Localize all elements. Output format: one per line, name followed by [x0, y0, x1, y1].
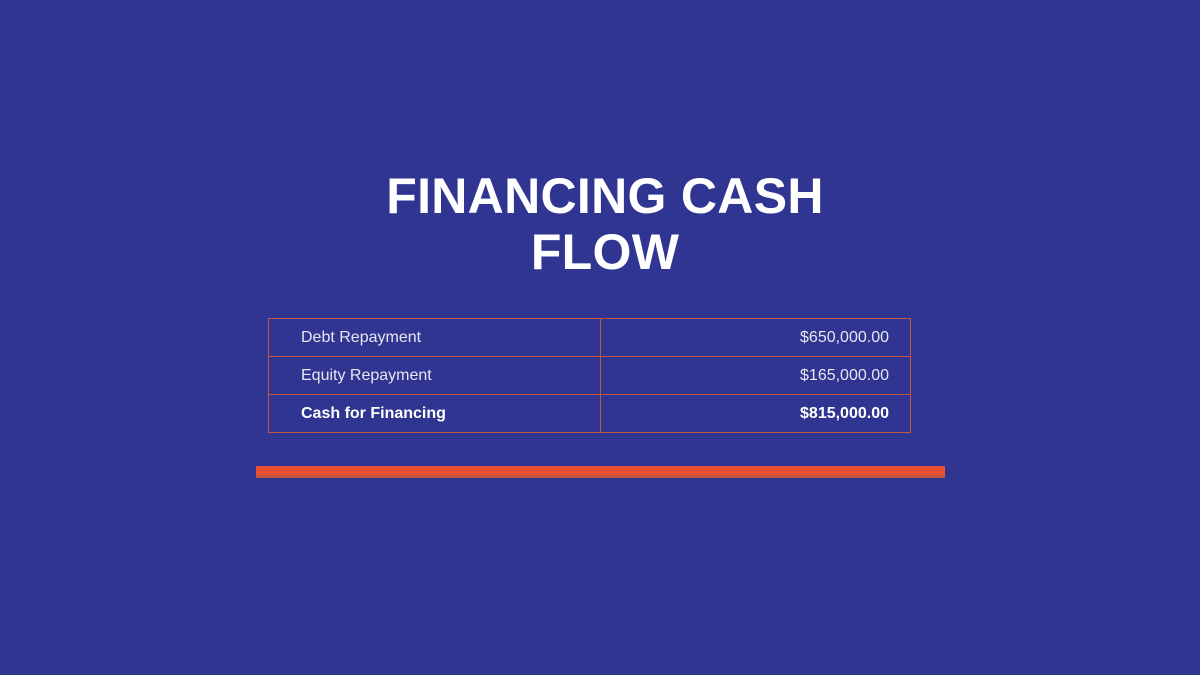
- total-value: $815,000.00: [601, 395, 911, 433]
- page-title: Financing Cash Flow: [385, 168, 825, 280]
- divider-bar-shadow: [256, 475, 945, 478]
- divider-bar-fill: [256, 466, 945, 475]
- table-row-total: Cash for Financing $815,000.00: [269, 395, 911, 433]
- table-row: Equity Repayment $165,000.00: [269, 357, 911, 395]
- total-label: Cash for Financing: [269, 395, 601, 433]
- row-value: $165,000.00: [601, 357, 911, 395]
- slide-canvas: Financing Cash Flow Debt Repayment $650,…: [0, 0, 1200, 675]
- row-value: $650,000.00: [601, 319, 911, 357]
- row-label: Debt Repayment: [269, 319, 601, 357]
- title-block: Financing Cash Flow: [0, 168, 1200, 280]
- orange-divider-bar: [256, 466, 945, 478]
- table-row: Debt Repayment $650,000.00: [269, 319, 911, 357]
- row-label: Equity Repayment: [269, 357, 601, 395]
- financing-cash-flow-table: Debt Repayment $650,000.00 Equity Repaym…: [268, 318, 911, 433]
